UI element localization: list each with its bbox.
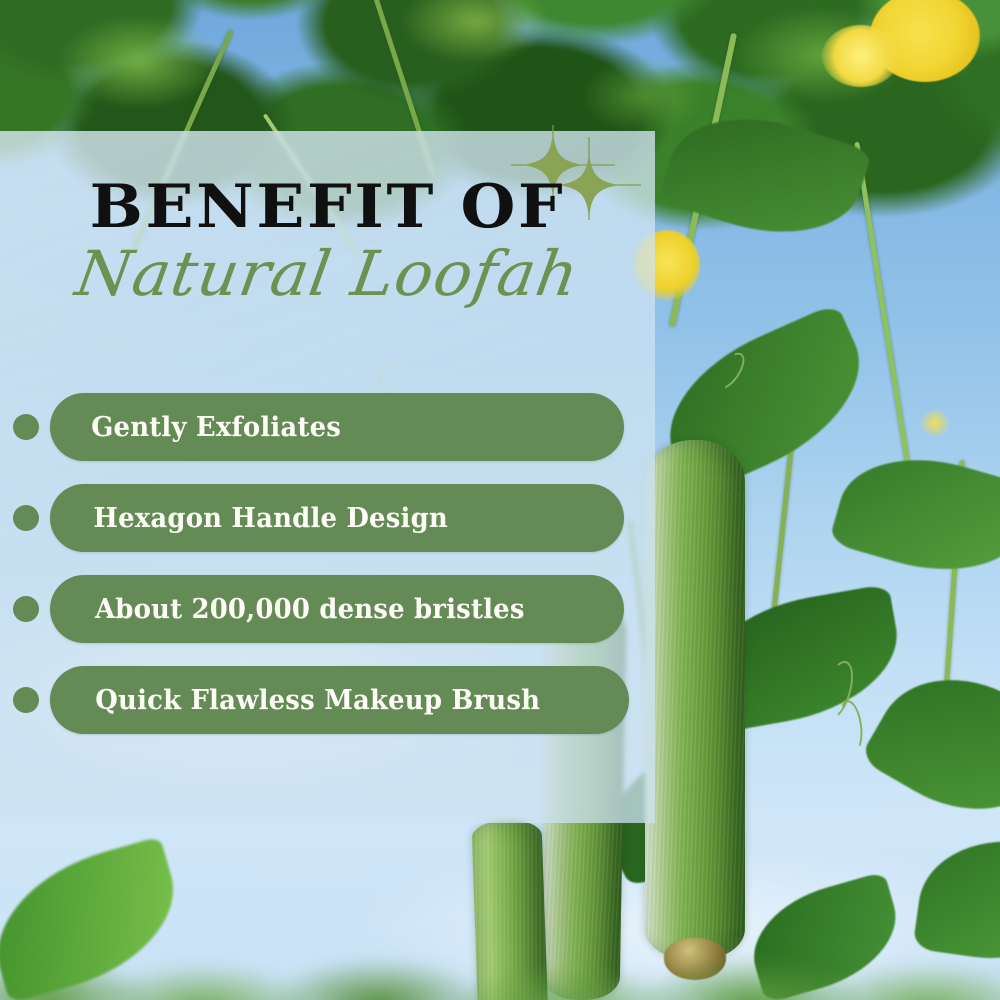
yellow-flower	[920, 410, 950, 436]
bullet-dot-icon	[13, 596, 39, 622]
benefit-pill[interactable]: Quick Flawless Makeup Brush	[50, 666, 629, 734]
benefit-label: Hexagon Handle Design	[93, 505, 448, 532]
list-item[interactable]: Gently Exfoliates	[0, 393, 655, 461]
benefit-pill[interactable]: Gently Exfoliates	[50, 393, 624, 461]
bullet-dot-icon	[13, 687, 39, 713]
bullet-dot-icon	[13, 505, 39, 531]
bullet-dot-icon	[13, 414, 39, 440]
benefit-pill[interactable]: About 200,000 dense bristles	[50, 575, 624, 643]
yellow-flower	[822, 25, 900, 87]
poster: BENEFIT OF Natural Loofah Gently Exfolia…	[0, 0, 1000, 1000]
page-title: BENEFIT OF	[0, 177, 671, 237]
title-block: BENEFIT OF Natural Loofah	[0, 177, 655, 306]
benefit-label: About 200,000 dense bristles	[95, 596, 525, 623]
list-item[interactable]: Hexagon Handle Design	[0, 484, 655, 552]
benefit-label: Quick Flawless Makeup Brush	[95, 687, 540, 714]
list-item[interactable]: Quick Flawless Makeup Brush	[0, 666, 655, 734]
benefits-list: Gently Exfoliates Hexagon Handle Design …	[0, 393, 655, 734]
benefit-pill[interactable]: Hexagon Handle Design	[50, 484, 624, 552]
list-item[interactable]: About 200,000 dense bristles	[0, 575, 655, 643]
benefit-label: Gently Exfoliates	[91, 414, 341, 441]
content-panel: BENEFIT OF Natural Loofah Gently Exfolia…	[0, 131, 655, 823]
page-subtitle: Natural Loofah	[0, 241, 667, 306]
